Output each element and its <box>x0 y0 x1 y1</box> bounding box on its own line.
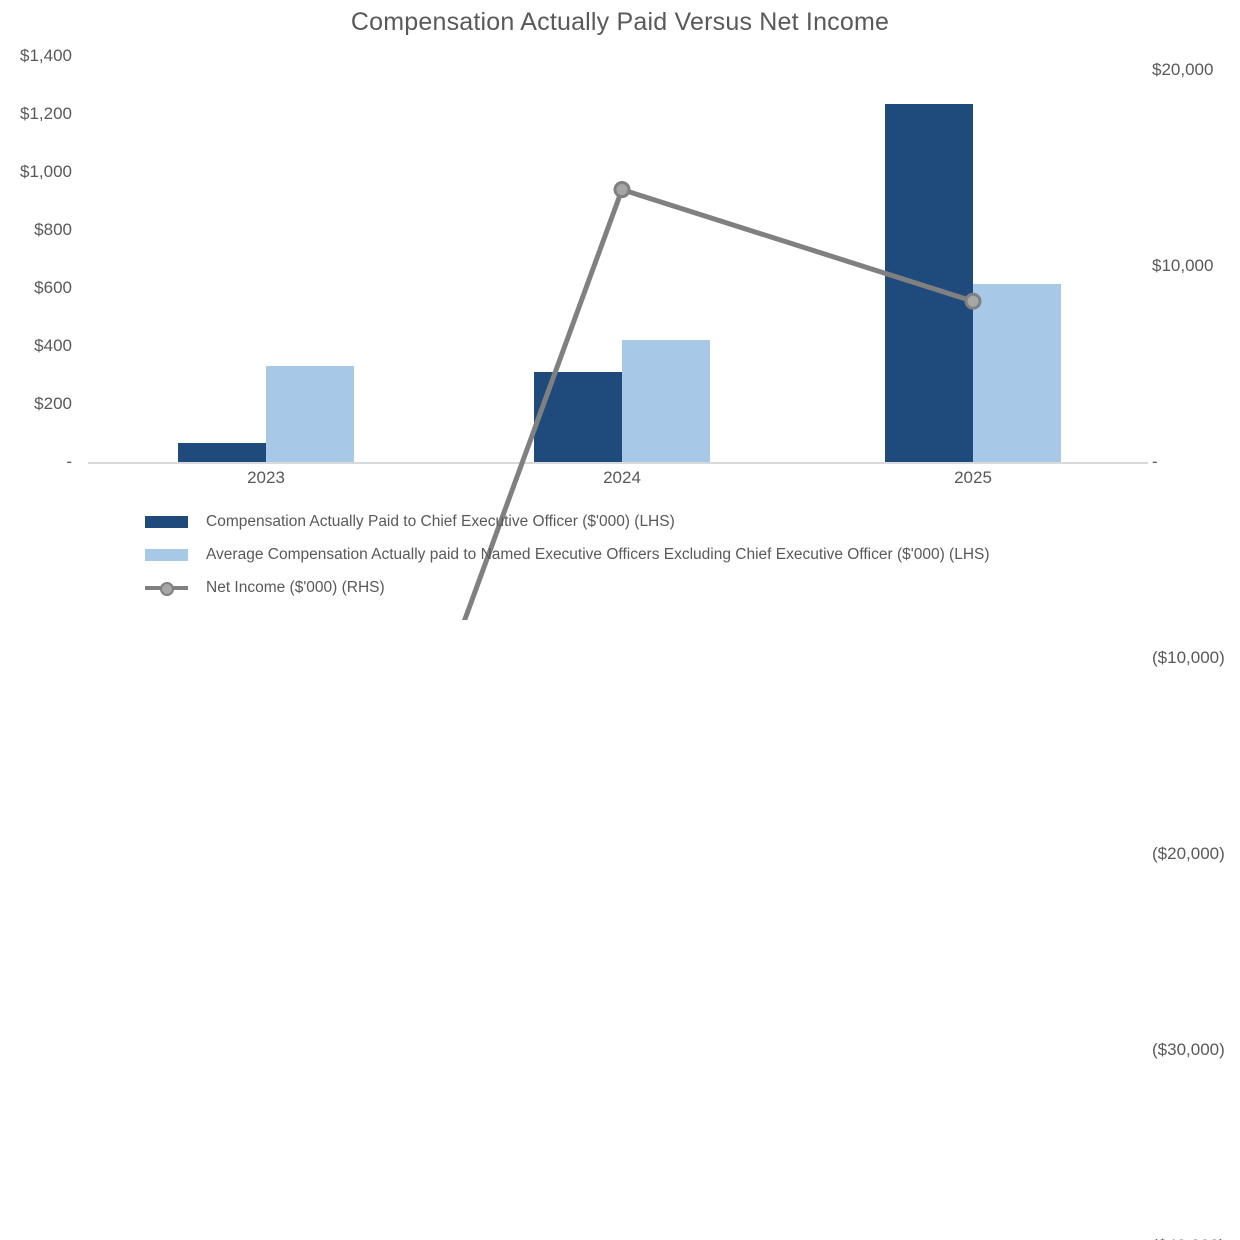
right-axis-tick: $10,000 <box>1152 257 1213 274</box>
right-axis-tick: ($10,000) <box>1152 649 1225 666</box>
right-axis-tick: ($40,000) <box>1152 1237 1225 1240</box>
legend-label-net-income: Net Income ($'000) (RHS) <box>206 579 385 597</box>
bar <box>266 366 354 462</box>
legend-line-dot-icon <box>145 581 188 595</box>
legend-item-avg-neo[interactable]: Average Compensation Actually paid to Na… <box>145 538 1225 571</box>
category-label: 2024 <box>532 468 712 488</box>
legend-label-cap-ceo: Compensation Actually Paid to Chief Exec… <box>206 513 675 531</box>
left-axis-tick: $1,400 <box>0 47 72 64</box>
legend-item-net-income[interactable]: Net Income ($'000) (RHS) <box>145 571 1225 604</box>
x-axis-baseline <box>88 462 1148 464</box>
chart-legend: Compensation Actually Paid to Chief Exec… <box>145 505 1225 604</box>
bar <box>622 340 710 462</box>
right-axis-tick: ($20,000) <box>1152 845 1225 862</box>
left-axis-tick: $400 <box>0 337 72 354</box>
chart-title: Compensation Actually Paid Versus Net In… <box>0 8 1240 37</box>
category-label: 2023 <box>176 468 356 488</box>
chart-container: Compensation Actually Paid Versus Net In… <box>0 0 1240 620</box>
bar <box>178 443 266 462</box>
left-axis-tick: $1,200 <box>0 105 72 122</box>
right-axis-tick: - <box>1152 453 1158 470</box>
bar <box>885 104 973 462</box>
legend-swatch-cap-ceo <box>145 516 188 528</box>
left-axis-tick: $800 <box>0 221 72 238</box>
category-label: 2025 <box>883 468 1063 488</box>
legend-item-cap-ceo[interactable]: Compensation Actually Paid to Chief Exec… <box>145 505 1225 538</box>
bar <box>534 372 622 462</box>
left-axis-tick: $1,000 <box>0 163 72 180</box>
right-axis-tick: ($30,000) <box>1152 1041 1225 1058</box>
legend-label-avg-neo: Average Compensation Actually paid to Na… <box>206 546 990 564</box>
right-axis-tick: $20,000 <box>1152 61 1213 78</box>
left-axis-tick: $200 <box>0 395 72 412</box>
legend-swatch-avg-neo <box>145 549 188 561</box>
bar <box>973 284 1061 462</box>
left-axis-tick: $600 <box>0 279 72 296</box>
line-data-point <box>615 183 629 197</box>
left-axis-tick: - <box>0 453 72 470</box>
